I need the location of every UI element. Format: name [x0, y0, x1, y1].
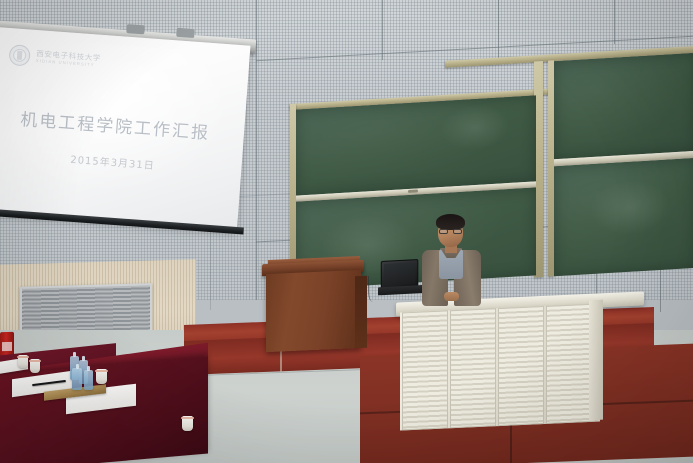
- presenter-person: [414, 214, 488, 306]
- cabinet-door[interactable]: [450, 308, 496, 428]
- wall-seam: [498, 0, 499, 62]
- university-logo: 西安电子科技大学 XIDIAN UNIVERSITY: [8, 44, 101, 72]
- wall-seam: [256, 0, 257, 300]
- cabinet-door[interactable]: [498, 306, 544, 426]
- water-bottle: [84, 370, 93, 390]
- hair: [436, 214, 465, 230]
- lectern-body: [266, 270, 361, 352]
- wall-seam: [614, 0, 615, 44]
- lecture-hall-photo: 西安电子科技大学 XIDIAN UNIVERSITY 机电工程学院工作汇报 20…: [0, 0, 693, 463]
- projection-screen: 西安电子科技大学 XIDIAN UNIVERSITY 机电工程学院工作汇报 20…: [0, 27, 250, 231]
- paper-cup: [30, 359, 40, 373]
- water-bottle: [72, 368, 82, 390]
- green-chalkboard: [290, 46, 693, 292]
- lectern-side: [355, 276, 367, 349]
- university-emblem-icon: [8, 44, 30, 66]
- slide-date: 2015年3月31日: [0, 144, 242, 178]
- wall-seam: [382, 0, 383, 60]
- cabinet-door[interactable]: [402, 310, 448, 430]
- paper-cup: [18, 355, 28, 368]
- glasses-icon: [439, 229, 462, 234]
- paper-cup: [182, 416, 193, 431]
- paper-cup: [96, 369, 107, 384]
- hand: [444, 292, 459, 301]
- cabinet-body: [400, 303, 600, 430]
- cabinet-side-panel: [589, 300, 603, 421]
- slide-title: 机电工程学院工作汇报: [0, 103, 245, 147]
